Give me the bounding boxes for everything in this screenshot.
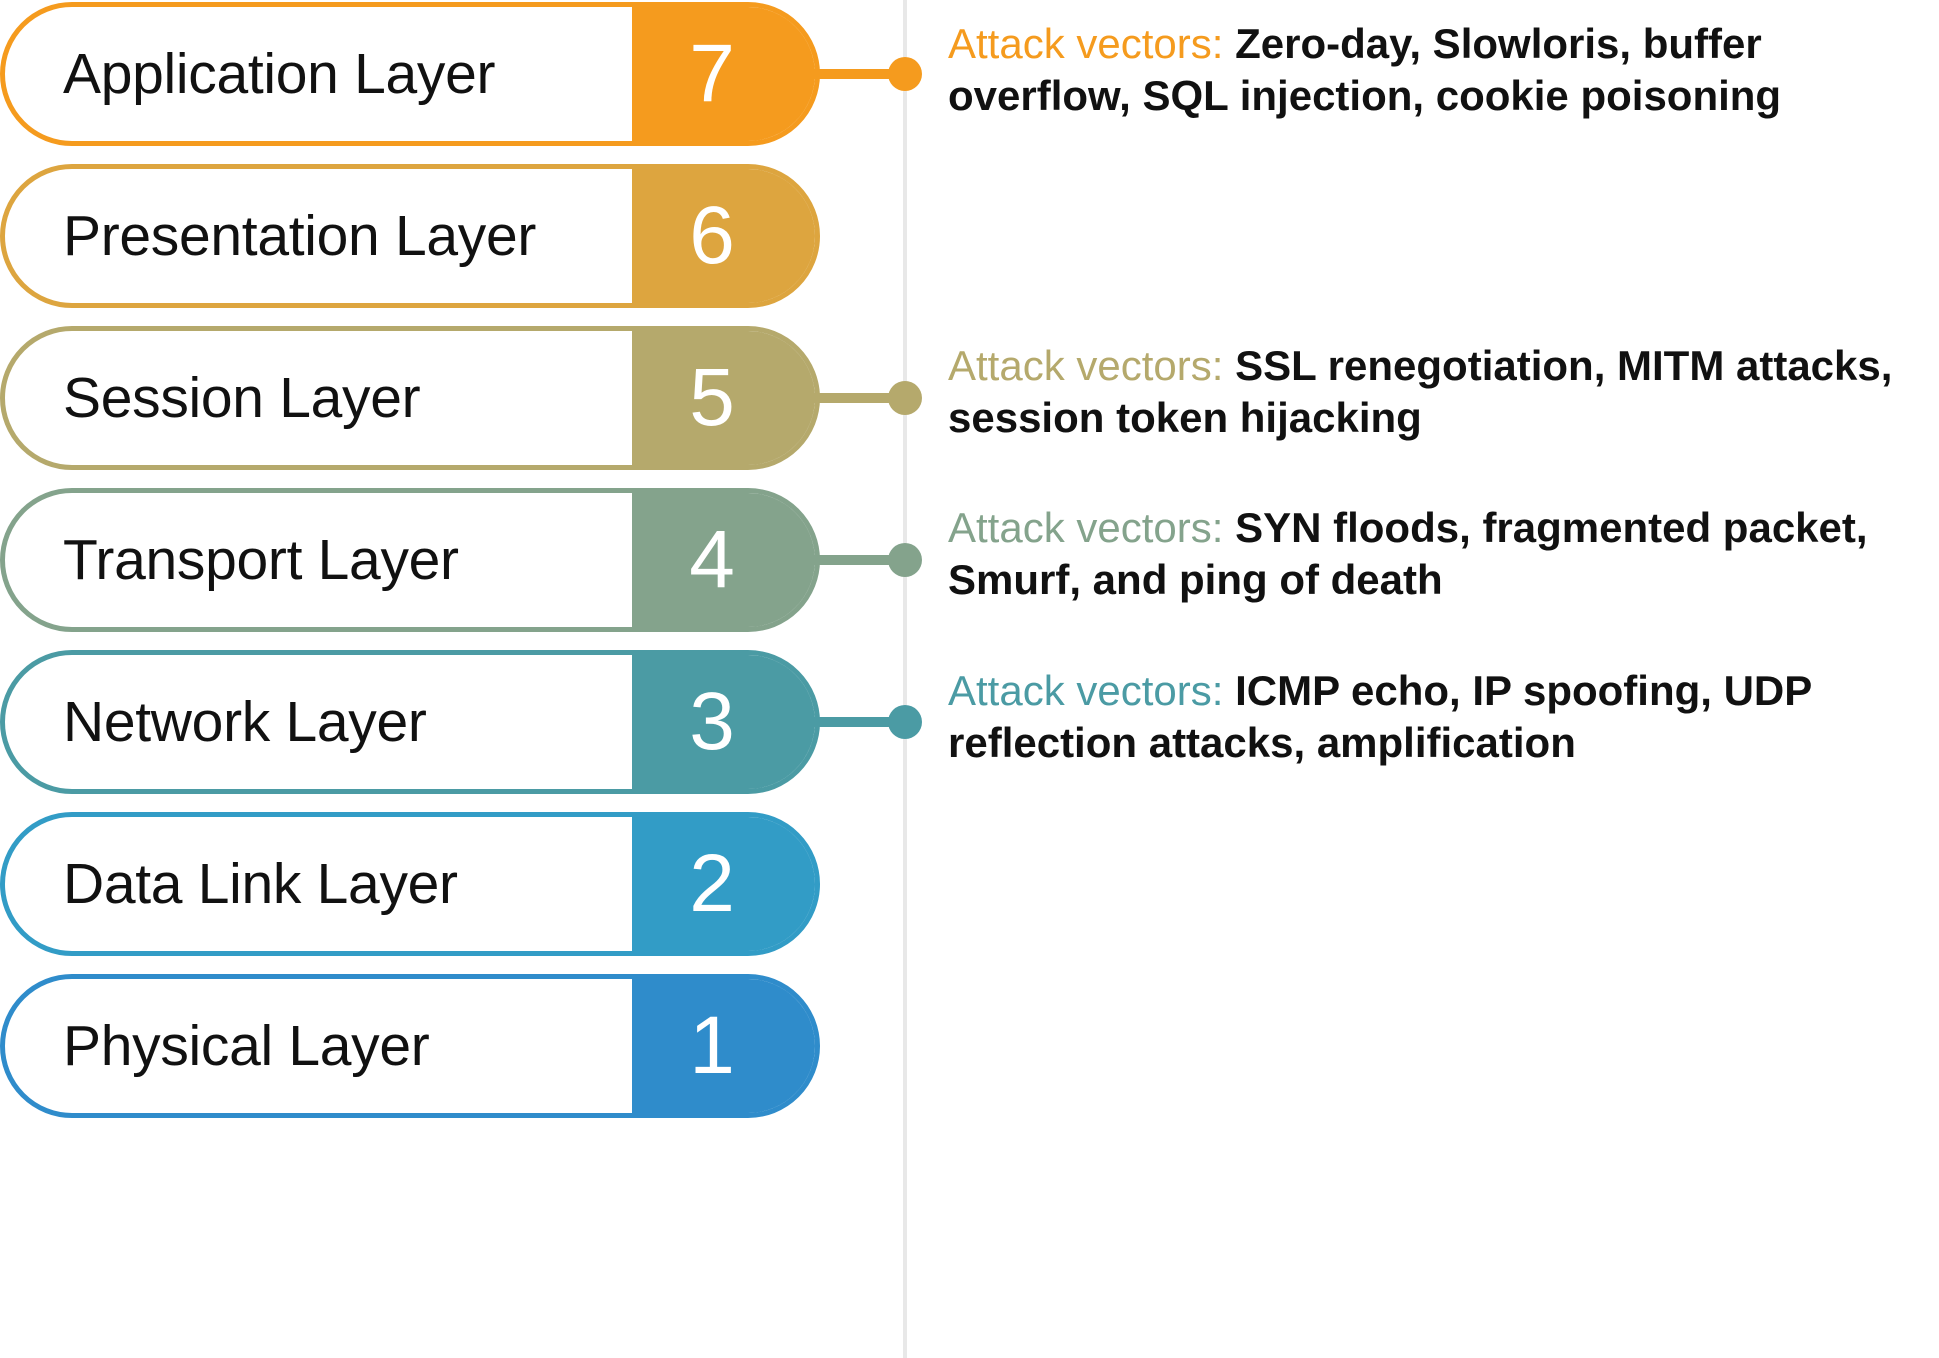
layer-name-label: Transport Layer (63, 493, 625, 627)
attack-vectors-annotation: Attack vectors: ICMP echo, IP spoofing, … (948, 665, 1938, 769)
attack-vectors-annotation: Attack vectors: SSL renegotiation, MITM … (948, 340, 1938, 444)
connector-dot (888, 705, 922, 739)
connector-dot (888, 57, 922, 91)
layer-row[interactable]: Application Layer7 (0, 2, 820, 146)
attack-vectors-label: Attack vectors: (948, 667, 1223, 714)
attack-vectors-label: Attack vectors: (948, 342, 1223, 389)
connector-dot (888, 381, 922, 415)
layer-name-label: Application Layer (63, 7, 625, 141)
layer-number-block: 5 (632, 326, 820, 470)
layer-number-block: 6 (632, 164, 820, 308)
layer-name-label: Session Layer (63, 331, 625, 465)
layer-pill[interactable]: Physical Layer1 (0, 974, 820, 1118)
attack-vectors-label: Attack vectors: (948, 20, 1223, 67)
layer-number: 3 (689, 681, 735, 763)
layer-number: 1 (689, 1005, 735, 1087)
layer-row[interactable]: Network Layer3 (0, 650, 820, 794)
layer-number-block: 7 (632, 2, 820, 146)
vertical-divider-rail (903, 0, 907, 1358)
layer-row[interactable]: Transport Layer4 (0, 488, 820, 632)
layer-row[interactable]: Presentation Layer6 (0, 164, 820, 308)
layer-number-block: 2 (632, 812, 820, 956)
layer-name-label: Network Layer (63, 655, 625, 789)
layer-pill[interactable]: Application Layer7 (0, 2, 820, 146)
layer-row[interactable]: Physical Layer1 (0, 974, 820, 1118)
layer-row[interactable]: Data Link Layer2 (0, 812, 820, 956)
osi-layer-diagram: Application Layer7Presentation Layer6Ses… (0, 0, 1939, 1358)
layer-pill[interactable]: Session Layer5 (0, 326, 820, 470)
layer-row[interactable]: Session Layer5 (0, 326, 820, 470)
layer-number-block: 4 (632, 488, 820, 632)
layer-number: 6 (689, 195, 735, 277)
layer-name-label: Presentation Layer (63, 169, 625, 303)
layer-name-label: Physical Layer (63, 979, 625, 1113)
layer-name-label: Data Link Layer (63, 817, 625, 951)
layer-pill[interactable]: Transport Layer4 (0, 488, 820, 632)
attack-vectors-annotation: Attack vectors: SYN floods, fragmented p… (948, 502, 1938, 606)
layer-number-block: 3 (632, 650, 820, 794)
layer-number: 4 (689, 519, 735, 601)
layer-number-block: 1 (632, 974, 820, 1118)
layer-pill[interactable]: Presentation Layer6 (0, 164, 820, 308)
connector-dot (888, 543, 922, 577)
layer-number: 7 (689, 33, 735, 115)
layer-pill[interactable]: Data Link Layer2 (0, 812, 820, 956)
attack-vectors-label: Attack vectors: (948, 504, 1223, 551)
attack-vectors-annotation: Attack vectors: Zero-day, Slowloris, buf… (948, 18, 1938, 122)
layer-number: 2 (689, 843, 735, 925)
layer-pill[interactable]: Network Layer3 (0, 650, 820, 794)
layer-number: 5 (689, 357, 735, 439)
